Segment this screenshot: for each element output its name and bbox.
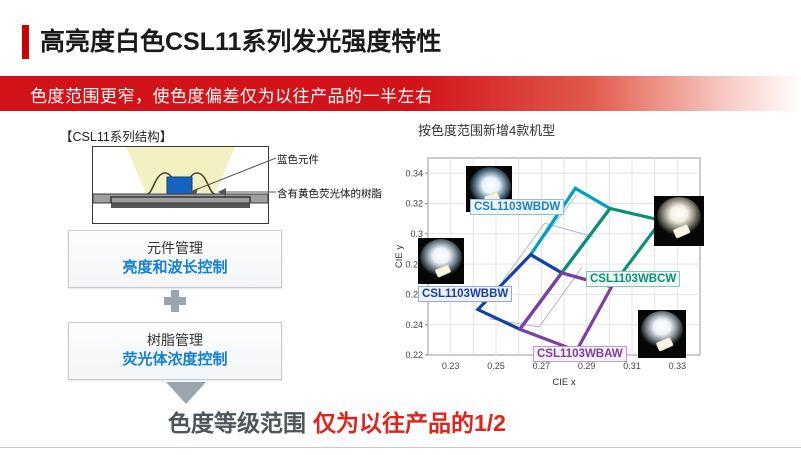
info-box-component-management: 元件管理 亮度和波长控制 <box>68 230 282 288</box>
slide-root: 高亮度白色CSL11系列发光强度特性 色度范围更窄，使色度偏差仅为以往产品的一半… <box>0 0 801 455</box>
svg-text:CIE y: CIE y <box>394 245 405 268</box>
info-box-1-line1: 元件管理 <box>147 239 203 258</box>
chart-title: 按色度范围新增4款机型 <box>418 120 555 139</box>
info-box-2-line2: 荧光体浓度控制 <box>122 350 227 370</box>
series-label-csl1103wbaw: CSL1103WBAW <box>533 346 627 362</box>
conclusion-line: 色度等级范围仅为以往产品的1/2 <box>168 404 506 438</box>
slide-title-row: 高亮度白色CSL11系列发光强度特性 <box>0 18 801 66</box>
page-title: 高亮度白色CSL11系列发光强度特性 <box>40 30 441 55</box>
series-label-csl1103wbcw: CSL1103WBCW <box>586 271 680 287</box>
structure-caption: 【CSL11系列结构】 <box>60 126 172 145</box>
footer-divider <box>0 447 801 448</box>
svg-text:0.23: 0.23 <box>442 361 460 371</box>
info-box-2-line1: 树脂管理 <box>147 331 203 350</box>
svg-text:0.29: 0.29 <box>578 361 596 371</box>
conclusion-gray-text: 色度等级范围 <box>168 410 306 436</box>
series-label-csl1103wbbw: CSL1103WBBW <box>418 286 512 302</box>
title-accent-bar <box>22 25 29 59</box>
series-label-csl1103wbdw: CSL1103WBDW <box>470 199 564 215</box>
svg-text:0.24: 0.24 <box>405 320 423 330</box>
svg-text:0.32: 0.32 <box>405 199 423 209</box>
plus-icon <box>164 290 186 312</box>
svg-text:0.33: 0.33 <box>669 361 687 371</box>
led-thumbnail-bbw <box>418 238 464 284</box>
callout-blue-chip-label: 蓝色元件 <box>277 152 319 167</box>
led-thumbnail-baw <box>638 310 686 358</box>
callout-leader-lines <box>188 150 288 212</box>
svg-text:0.34: 0.34 <box>405 168 423 178</box>
info-box-1-line2: 亮度和波长控制 <box>122 258 227 278</box>
svg-text:0.22: 0.22 <box>405 350 423 360</box>
info-box-resin-management: 树脂管理 荧光体浓度控制 <box>68 322 282 380</box>
conclusion-red-text: 仅为以往产品的1/2 <box>313 410 506 436</box>
svg-text:0.25: 0.25 <box>487 361 505 371</box>
svg-text:0.27: 0.27 <box>533 361 551 371</box>
svg-text:CIE x: CIE x <box>552 377 575 388</box>
subtitle-banner-text: 色度范围更窄，使色度偏差仅为以往产品的一半左右 <box>30 82 433 107</box>
svg-text:0.31: 0.31 <box>623 361 641 371</box>
led-thumbnail-bcw <box>654 196 704 246</box>
down-arrow-icon <box>158 382 214 406</box>
callout-resin-label: 含有黄色荧光体的树脂 <box>277 186 382 201</box>
